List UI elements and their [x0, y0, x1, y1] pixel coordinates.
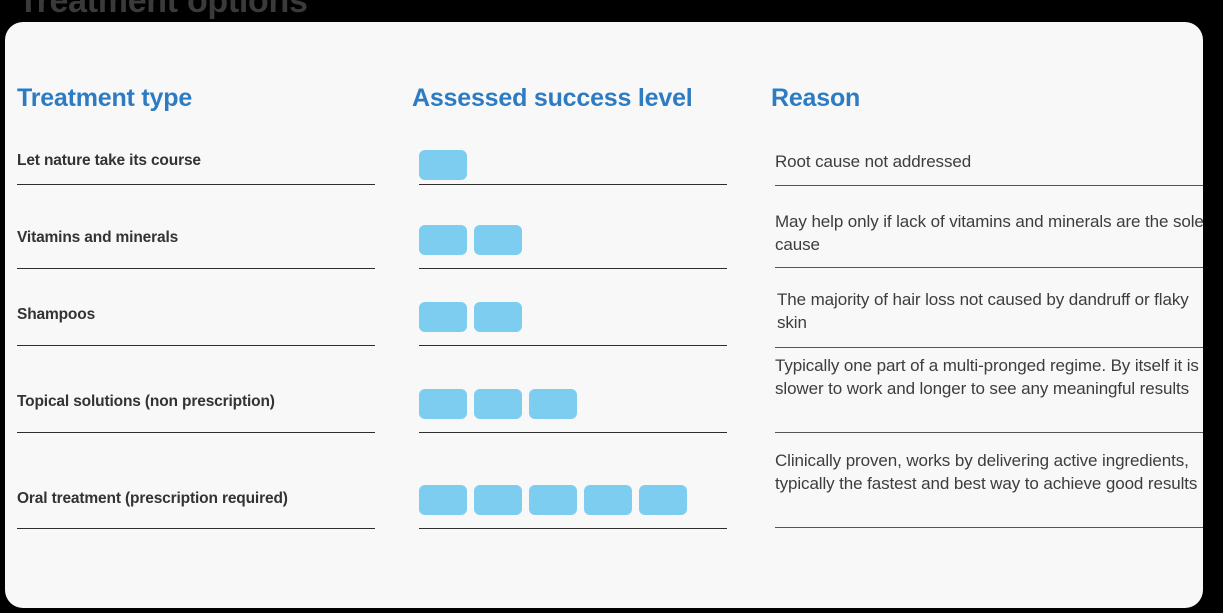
success-bar: [474, 225, 522, 255]
success-level-divider: [419, 268, 727, 269]
success-bar: [419, 389, 467, 419]
treatment-type-label: Shampoos: [17, 306, 375, 324]
success-level-divider: [419, 345, 727, 346]
success-bar: [474, 485, 522, 515]
success-bar: [419, 225, 467, 255]
reason-text: Typically one part of a multi-pronged re…: [775, 354, 1203, 400]
reason-text: Root cause not addressed: [775, 150, 1203, 173]
column-header-assessed-success-level: Assessed success level: [412, 84, 693, 113]
success-bar: [419, 150, 467, 180]
reason-text: May help only if lack of vitamins and mi…: [775, 210, 1203, 256]
success-bar: [639, 485, 687, 515]
success-level-divider: [419, 432, 727, 433]
success-level-bars: [419, 485, 687, 515]
treatment-type-label: Vitamins and minerals: [17, 229, 375, 247]
reason-divider: [775, 432, 1203, 433]
treatment-type-divider: [17, 184, 375, 185]
column-header-reason: Reason: [771, 84, 860, 113]
reason-divider: [775, 347, 1203, 348]
treatment-type-label: Topical solutions (non prescription): [17, 393, 375, 411]
treatment-options-card: Treatment type Assessed success level Re…: [5, 22, 1203, 608]
reason-text: Clinically proven, works by delivering a…: [775, 449, 1203, 495]
success-bar: [419, 302, 467, 332]
page-title: Treatment options: [18, 0, 308, 21]
treatment-type-divider: [17, 268, 375, 269]
treatment-type-divider: [17, 345, 375, 346]
column-header-treatment-type: Treatment type: [17, 84, 192, 113]
success-level-divider: [419, 528, 727, 529]
success-level-bars: [419, 225, 522, 255]
success-bar: [419, 485, 467, 515]
reason-divider: [775, 267, 1203, 268]
success-level-divider: [419, 184, 727, 185]
success-bar: [529, 389, 577, 419]
treatment-type-label: Oral treatment (prescription required): [17, 490, 375, 508]
reason-divider: [775, 185, 1203, 186]
treatment-type-divider: [17, 432, 375, 433]
reason-text: The majority of hair loss not caused by …: [777, 288, 1203, 334]
success-bar: [474, 302, 522, 332]
reason-divider: [775, 527, 1203, 528]
success-bar: [474, 389, 522, 419]
treatment-type-divider: [17, 528, 375, 529]
success-level-bars: [419, 150, 467, 180]
treatment-type-label: Let nature take its course: [17, 152, 375, 170]
success-bar: [584, 485, 632, 515]
success-level-bars: [419, 389, 577, 419]
success-bar: [529, 485, 577, 515]
success-level-bars: [419, 302, 522, 332]
